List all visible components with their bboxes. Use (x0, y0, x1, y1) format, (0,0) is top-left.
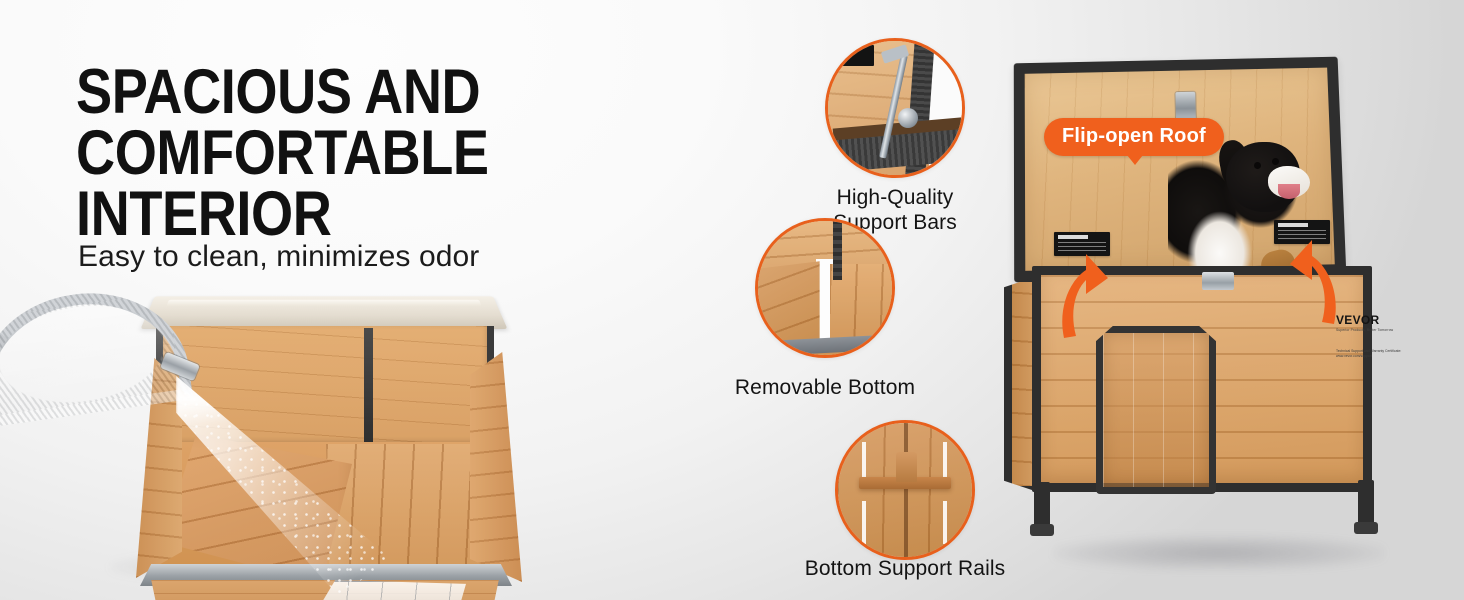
vevor-wordmark: VEVOR (1336, 314, 1414, 326)
interior-center-post (364, 328, 373, 444)
flip-open-roof-badge: Flip-open Roof (1044, 118, 1224, 156)
body-clasp (1202, 272, 1234, 290)
right-photo-shadow (1054, 536, 1384, 570)
foot-front-right (1354, 522, 1378, 534)
c3-rail-block (896, 452, 917, 481)
dog-eye-right (1272, 158, 1279, 165)
dog-eye-left (1254, 162, 1261, 169)
up-arrow-right-icon (1286, 234, 1346, 326)
feature-circle-removable-bottom (755, 218, 895, 358)
c1-warning-plate (833, 45, 873, 66)
c3-highlight-1 (862, 442, 866, 482)
foot-front-left (1030, 524, 1054, 536)
vevor-logo: VEVOR Superior Products, Better Tomorrow… (1336, 314, 1414, 359)
interior-right-wall (470, 352, 522, 582)
dog-tongue (1278, 184, 1300, 199)
feature-circle-support-rails (835, 420, 975, 560)
up-arrow-left-icon (1052, 248, 1112, 340)
leg-front-right (1358, 480, 1374, 526)
c3-highlight-2 (943, 442, 947, 482)
c3-highlight-4 (943, 501, 947, 544)
leg-front-left (1034, 482, 1050, 528)
vevor-support-note: Technical Support and Warranty Certifica… (1336, 349, 1414, 359)
c3-plank-seam (904, 423, 908, 557)
vevor-tagline: Superior Products, Better Tomorrow (1336, 328, 1414, 333)
c3-highlight-3 (862, 501, 866, 544)
c1-pivot-joint (898, 108, 918, 128)
feature-caption-support-rails: Bottom Support Rails (790, 557, 1020, 582)
page-title: SPACIOUS AND COMFORTABLE INTERIOR (76, 62, 730, 245)
product-banner: SPACIOUS AND COMFORTABLE INTERIOR Easy t… (0, 0, 1464, 600)
left-product-photo (0, 250, 570, 600)
roof-latch (1175, 92, 1195, 120)
feature-circle-support-bars (825, 38, 965, 178)
feature-caption-removable-bottom: Removable Bottom (710, 376, 940, 401)
c2-center-post (833, 221, 842, 280)
flipped-roof-panel (140, 296, 507, 329)
doghouse-door (1096, 326, 1216, 494)
